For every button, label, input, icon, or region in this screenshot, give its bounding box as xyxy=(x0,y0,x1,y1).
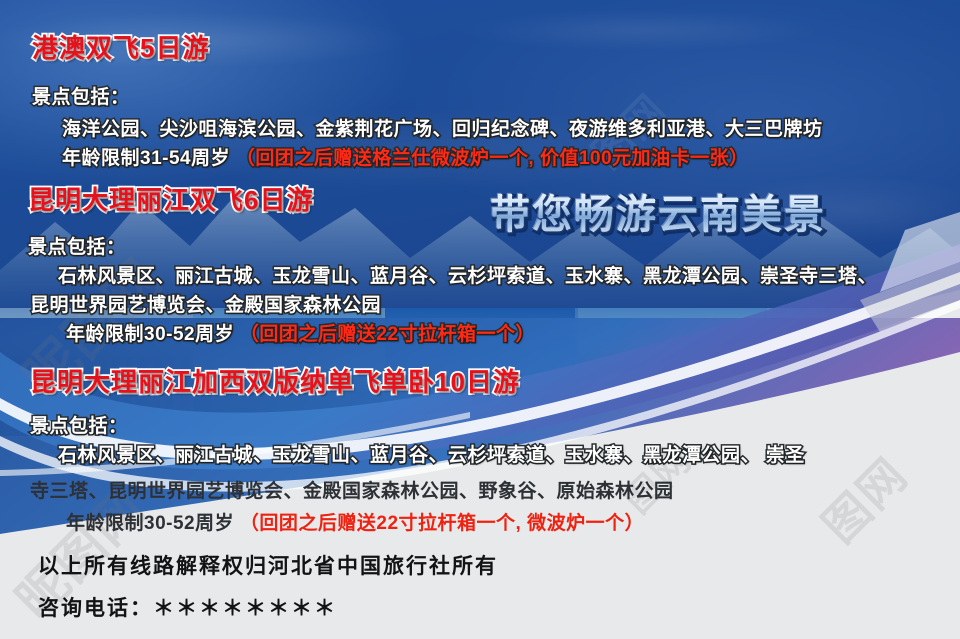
route-attractions-2-line-1: 石林风景区、丽江古城、玉龙雪山、蓝月谷、云杉坪索道、玉水寨、黑龙潭公园、崇圣寺三… xyxy=(58,261,877,288)
route-age-gift-2: 年龄限制30-52周岁 （回团之后赠送22寸拉杆箱一个） xyxy=(66,319,535,346)
route-age-gift-3: 年龄限制30-52周岁 （回团之后赠送22寸拉杆箱一个, 微波炉一个） xyxy=(66,508,644,535)
poster-content: 带您畅游云南美景 带您畅游云南美景 港澳双飞5日游 景点包括： 海洋公园、尖沙咀… xyxy=(0,0,960,639)
route-title-2: 昆明大理丽江双飞6日游 xyxy=(28,180,313,217)
route-label-1: 景点包括： xyxy=(32,82,130,109)
route-title-3: 昆明大理丽江加西双版纳单飞单卧10日游 xyxy=(30,362,520,399)
route-attractions-3-line-1: 石林风景区、丽江古城、玉龙雪山、蓝月谷、云杉坪索道、玉水寨、黑龙潭公园、 崇圣 xyxy=(58,440,805,467)
route-title-1: 港澳双飞5日游 xyxy=(32,28,209,65)
route-gift-1: （回团之后赠送格兰仕微波炉一个, 价值100元加油卡一张） xyxy=(236,148,749,169)
footer-phone-value: ＊＊＊＊＊＊＊＊ xyxy=(153,597,337,620)
route-label-3: 景点包括： xyxy=(30,411,128,438)
route-attractions-1-line-1: 海洋公园、尖沙咀海滨公园、金紫荆花广场、回归纪念碑、夜游维多利亚港、大三巴牌坊 xyxy=(62,114,823,141)
yunnan-headline: 带您畅游云南美景 xyxy=(490,182,826,240)
footer-phone: 咨询电话：＊＊＊＊＊＊＊＊ xyxy=(38,592,337,622)
route-attractions-3-line-2: 寺三塔、昆明世界园艺博览会、金殿国家森林公园、野象谷、原始森林公园 xyxy=(30,476,674,503)
footer-phone-label: 咨询电话： xyxy=(38,597,153,620)
route-attractions-2-line-2: 昆明世界园艺博览会、金殿国家森林公园 xyxy=(30,290,381,317)
route-label-2: 景点包括： xyxy=(28,232,126,259)
route-age-gift-1: 年龄限制31-54周岁 （回团之后赠送格兰仕微波炉一个, 价值100元加油卡一张… xyxy=(62,143,749,170)
route-gift-2: （回团之后赠送22寸拉杆箱一个） xyxy=(240,324,535,345)
route-age-1: 年龄限制31-54周岁 xyxy=(62,148,230,169)
footer-disclaimer: 以上所有线路解释权归河北省中国旅行社所有 xyxy=(38,550,498,580)
travel-poster: 昵图网 昵图网 图网 图网 图网 带您畅游云南美景 带您畅游云南美景 港澳双飞5… xyxy=(0,0,960,639)
route-gift-3: （回团之后赠送22寸拉杆箱一个, 微波炉一个） xyxy=(240,513,644,534)
route-age-2: 年龄限制30-52周岁 xyxy=(66,324,234,345)
route-age-3: 年龄限制30-52周岁 xyxy=(66,513,234,534)
